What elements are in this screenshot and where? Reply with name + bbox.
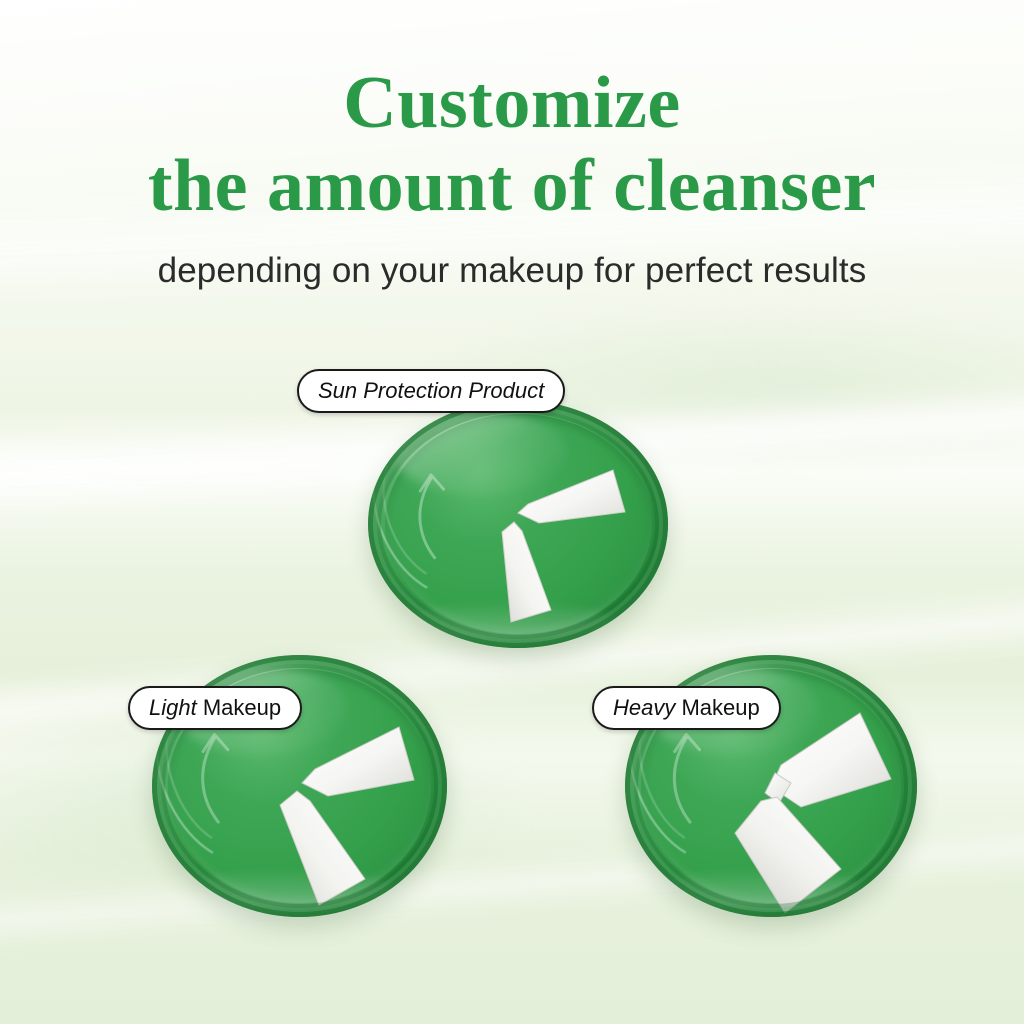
label-regular-part: Makeup <box>197 695 281 720</box>
label-regular-part: Makeup <box>675 695 759 720</box>
page-title-line-2: the amount of cleanser <box>0 149 1024 224</box>
page-subtitle: depending on your makeup for perfect res… <box>0 251 1024 291</box>
label-italic-part: Sun Protection Product <box>318 378 544 403</box>
label-italic-part: Light <box>149 695 197 720</box>
header-block: Customize the amount of cleanser dependi… <box>0 66 1024 291</box>
page-title-line-1: Customize <box>0 66 1024 141</box>
cleanser-wedges <box>368 400 668 648</box>
jar-sun-protection <box>368 400 668 648</box>
promo-poster: Customize the amount of cleanser dependi… <box>0 0 1024 1024</box>
label-light-makeup: Light Makeup <box>128 686 302 730</box>
label-heavy-makeup: Heavy Makeup <box>592 686 781 730</box>
jar-lid <box>368 400 668 648</box>
label-italic-part: Heavy <box>613 695 675 720</box>
label-sun-protection: Sun Protection Product <box>297 369 565 413</box>
